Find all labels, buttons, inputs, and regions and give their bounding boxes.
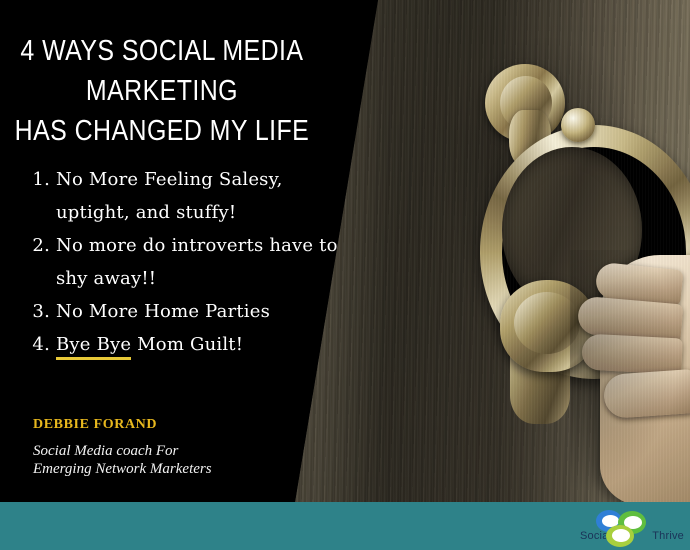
list-item-number: 3.	[26, 295, 56, 328]
marketing-graphic-canvas: 4 Ways Social Media Marketing Has Change…	[0, 0, 690, 550]
list-item: 2. No more do introverts have to shy awa…	[26, 229, 356, 295]
list-item: 1. No More Feeling Salesy, uptight, and …	[26, 163, 356, 229]
author-tagline: Social Media coach For Emerging Network …	[33, 442, 212, 478]
list-item: 4. Bye Bye Mom Guilt!	[26, 328, 356, 361]
page-title: 4 Ways Social Media Marketing Has Change…	[8, 31, 316, 151]
list-item: 3. No More Home Parties	[26, 295, 356, 328]
speech-bubble-lime-icon	[606, 525, 634, 547]
benefits-list: 1. No More Feeling Salesy, uptight, and …	[26, 163, 356, 361]
list-item-text: No More Feeling Salesy, uptight, and stu…	[56, 163, 356, 229]
list-item-text: Bye Bye Mom Guilt!	[56, 328, 356, 361]
author-name: DEBBIE FORAND	[33, 417, 157, 433]
list-item-highlight: Bye Bye	[56, 334, 131, 360]
list-item-number: 4.	[26, 328, 56, 361]
list-item-text: No more do introverts have to shy away!!	[56, 229, 356, 295]
list-item-number: 1.	[26, 163, 56, 196]
list-item-text-rest: Mom Guilt!	[137, 334, 243, 355]
list-item-text: No More Home Parties	[56, 295, 356, 328]
list-item-number: 2.	[26, 229, 56, 262]
logo-word-right: Thrive	[652, 530, 684, 542]
social-thrive-logo[interactable]: Social Thrive	[580, 508, 684, 546]
